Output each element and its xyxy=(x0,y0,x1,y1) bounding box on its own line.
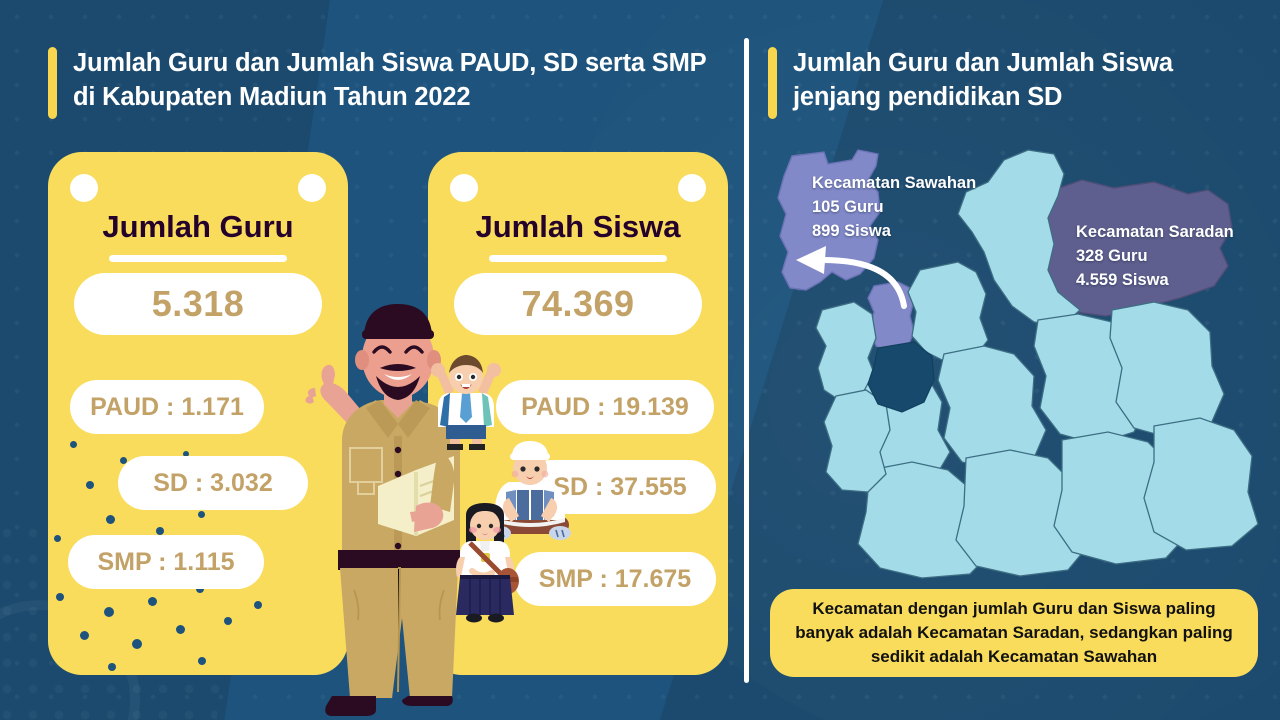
section-divider xyxy=(744,38,749,683)
card-guru-total-value: 5.318 xyxy=(152,283,245,325)
card-punch-hole-left xyxy=(70,174,98,202)
card-guru-underline xyxy=(109,255,287,262)
callout-sawahan-name: Kecamatan Sawahan xyxy=(812,172,976,196)
card-punch-hole-left xyxy=(450,174,478,202)
siswa-level-label-paud: PAUD : 19.139 xyxy=(521,393,689,422)
map-callout-sawahan: Kecamatan Sawahan 105 Guru 899 Siswa xyxy=(812,172,976,244)
map-callout-saradan: Kecamatan Saradan 328 Guru 4.559 Siswa xyxy=(1076,221,1234,293)
student-girl-illustration xyxy=(438,503,532,623)
map-summary-note: Kecamatan dengan jumlah Guru dan Siswa p… xyxy=(770,589,1258,677)
card-siswa-underline xyxy=(489,255,667,262)
map-summary-note-text: Kecamatan dengan jumlah Guru dan Siswa p… xyxy=(788,597,1240,669)
guru-level-pill-smp: SMP : 1.115 xyxy=(68,535,264,589)
heading-accent-bar xyxy=(768,47,777,119)
siswa-level-pill-smp: SMP : 17.675 xyxy=(514,552,716,606)
callout-saradan-name: Kecamatan Saradan xyxy=(1076,221,1234,245)
guru-level-label-paud: PAUD : 1.171 xyxy=(90,393,244,422)
guru-level-pill-paud: PAUD : 1.171 xyxy=(70,380,264,434)
guru-level-label-sd: SD : 3.032 xyxy=(153,469,273,498)
right-heading-text: Jumlah Guru dan Jumlah Siswa jenjang pen… xyxy=(793,47,1233,115)
callout-saradan-guru: 328 Guru xyxy=(1076,245,1234,269)
map-arrow-to-sawahan xyxy=(786,238,926,328)
card-siswa-title: Jumlah Siswa xyxy=(428,209,728,245)
card-punch-hole-right xyxy=(678,174,706,202)
callout-sawahan-siswa: 899 Siswa xyxy=(812,220,976,244)
callout-saradan-siswa: 4.559 Siswa xyxy=(1076,269,1234,293)
card-siswa-total-value: 74.369 xyxy=(521,283,634,325)
map-region-dark-sliver xyxy=(868,342,934,412)
left-section-heading: Jumlah Guru dan Jumlah Siswa PAUD, SD se… xyxy=(48,47,713,119)
guru-level-label-smp: SMP : 1.115 xyxy=(97,548,234,577)
student-boy-cheering-illustration xyxy=(424,353,508,451)
infographic-canvas: Jumlah Guru dan Jumlah Siswa PAUD, SD se… xyxy=(0,0,1280,720)
card-guru-title: Jumlah Guru xyxy=(48,209,348,245)
left-heading-text: Jumlah Guru dan Jumlah Siswa PAUD, SD se… xyxy=(73,47,713,115)
siswa-level-pill-paud: PAUD : 19.139 xyxy=(496,380,714,434)
callout-sawahan-guru: 105 Guru xyxy=(812,196,976,220)
card-punch-hole-right xyxy=(298,174,326,202)
heading-accent-bar xyxy=(48,47,57,119)
right-section-heading: Jumlah Guru dan Jumlah Siswa jenjang pen… xyxy=(768,47,1233,119)
siswa-level-label-smp: SMP : 17.675 xyxy=(539,565,691,594)
